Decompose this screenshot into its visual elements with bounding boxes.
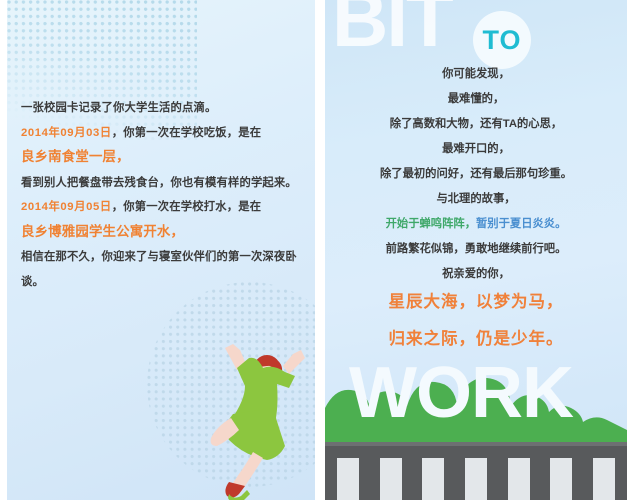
poem-line-3: 除了高数和大物，还有TA的心思， (325, 112, 627, 137)
road-illustration (325, 442, 627, 500)
crosswalk-stripe (465, 458, 487, 500)
story-line-3: 良乡南食堂一层， (21, 145, 313, 171)
jumping-girl-illustration (185, 322, 315, 500)
poem-text: 除了最初的问好，还有最后那句珍重。 (380, 168, 572, 180)
poem-text: 你可能发现， (442, 68, 510, 80)
story-date-2: 2014年09月05日 (21, 201, 112, 213)
poem-line-5: 除了最初的问好，还有最后那句珍重。 (325, 162, 627, 187)
story-date-1: 2014年09月03日 (21, 127, 112, 139)
story-place-2: 良乡博雅园学生公寓开水， (21, 224, 184, 239)
poem-text: 前路繁花似锦，勇敢地继续前行吧。 (386, 243, 567, 255)
right-poster-panel: BIT TO 你可能发现， 最难懂的， 除了高数和大物，还有TA的心思， 最难开… (325, 0, 627, 500)
story-line-8: 谈。 (21, 270, 313, 295)
slogan-text: 星辰大海，以梦为马， (389, 293, 564, 311)
left-story-text: 一张校园卡记录了你大学生活的点滴。 2014年09月03日，你第一次在学校吃饭，… (21, 96, 313, 294)
road-edge (325, 442, 627, 446)
right-poem-text: 你可能发现， 最难懂的， 除了高数和大物，还有TA的心思， 最难开口的， 除了最… (325, 62, 627, 287)
poem-green-phrase: 开始于蝉鸣阵阵， (386, 218, 476, 230)
bit-watermark: BIT (332, 0, 452, 58)
story-line-7: 相信在那不久，你迎来了与寝室伙伴们的第一次深夜卧 (21, 245, 313, 270)
crosswalk-stripe (508, 458, 530, 500)
story-text: 一张校园卡记录了你大学生活的点滴。 (21, 102, 216, 114)
crosswalk-stripe (593, 458, 615, 500)
story-text: 相信在那不久，你迎来了与寝室伙伴们的第一次深夜卧 (21, 251, 297, 263)
poem-text: 最难懂的， (448, 93, 505, 105)
poem-blue-phrase: 暂别于夏日炎炎。 (476, 218, 566, 230)
work-watermark: WORK (349, 357, 573, 429)
story-text: ，你第一次在学校打水，是在 (112, 201, 261, 213)
crosswalk-stripe (422, 458, 444, 500)
poster-stage: 一张校园卡记录了你大学生活的点滴。 2014年09月03日，你第一次在学校吃饭，… (0, 0, 640, 500)
poem-text: 最难开口的， (442, 143, 510, 155)
story-line-6: 良乡博雅园学生公寓开水， (21, 220, 313, 246)
poem-line-4: 最难开口的， (325, 137, 627, 162)
poem-line-7-colored: 开始于蝉鸣阵阵，暂别于夏日炎炎。 (325, 212, 627, 237)
story-text: 看到别人把餐盘带去残食台，你也有模有样的学起来。 (21, 177, 297, 189)
story-line-5: 2014年09月05日，你第一次在学校打水，是在 (21, 195, 313, 220)
poem-line-1: 你可能发现， (325, 62, 627, 87)
story-text: 谈。 (21, 276, 44, 288)
poem-text: 与北理的故事， (436, 193, 515, 205)
story-line-4: 看到别人把餐盘带去残食台，你也有模有样的学起来。 (21, 171, 313, 196)
poem-line-8: 前路繁花似锦，勇敢地继续前行吧。 (325, 237, 627, 262)
poem-line-6: 与北理的故事， (325, 187, 627, 212)
crosswalk-stripe (550, 458, 572, 500)
slogan-text: 归来之际，仍是少年。 (389, 330, 564, 348)
poem-text: 祝亲爱的你， (442, 268, 510, 280)
slogan-block: 星辰大海，以梦为马， 归来之际，仍是少年。 (325, 284, 627, 358)
story-place-1: 良乡南食堂一层， (21, 149, 130, 164)
crosswalk-stripe (337, 458, 359, 500)
story-text: ，你第一次在学校吃饭，是在 (112, 127, 261, 139)
left-poster-panel: 一张校园卡记录了你大学生活的点滴。 2014年09月03日，你第一次在学校吃饭，… (7, 0, 315, 500)
girl-right-hand (283, 350, 305, 374)
to-badge-label: TO (482, 25, 521, 56)
crosswalk-stripes (325, 458, 627, 500)
poem-line-2: 最难懂的， (325, 87, 627, 112)
to-badge: TO (473, 11, 531, 69)
poem-text: 除了高数和大物，还有TA的心思， (390, 118, 562, 130)
slogan-line-1: 星辰大海，以梦为马， (325, 284, 627, 321)
story-line-2: 2014年09月03日，你第一次在学校吃饭，是在 (21, 121, 313, 146)
crosswalk-stripe (380, 458, 402, 500)
story-line-1: 一张校园卡记录了你大学生活的点滴。 (21, 96, 313, 121)
